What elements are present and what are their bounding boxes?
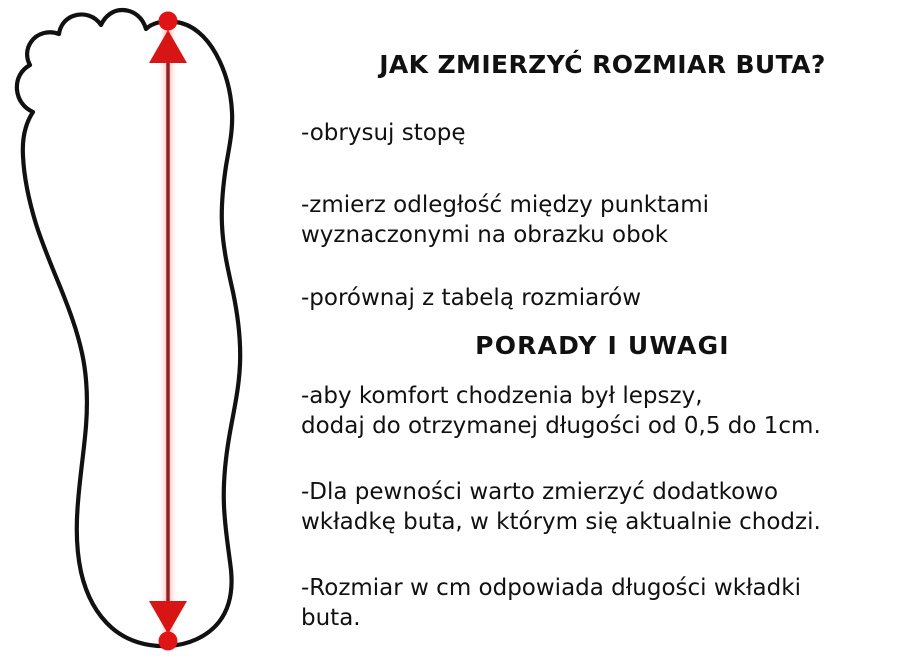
measurement-point-top	[159, 12, 178, 31]
instruction-outline-foot: -obrysuj stopę	[301, 118, 466, 148]
tip-measure-insole: -Dla pewności warto zmierzyć dodatkowo w…	[301, 477, 821, 537]
instructions-panel: JAK ZMIERZYĆ ROZMIAR BUTA? -obrysuj stop…	[290, 0, 915, 669]
foot-diagram	[0, 0, 290, 669]
shoe-size-guide-page: JAK ZMIERZYĆ ROZMIAR BUTA? -obrysuj stop…	[0, 0, 915, 669]
measurement-point-bottom	[159, 632, 178, 651]
page-title: JAK ZMIERZYĆ ROZMIAR BUTA?	[290, 50, 915, 79]
tip-size-equals-insole-length: -Rozmiar w cm odpowiada długości wkładki…	[301, 573, 801, 633]
instruction-compare-size-table: -porównaj z tabelą rozmiarów	[301, 283, 641, 313]
instruction-measure-distance: -zmierz odległość między punktami wyznac…	[301, 190, 709, 250]
tip-comfort-allowance: -aby komfort chodzenia był lepszy, dodaj…	[301, 381, 821, 441]
foot-outline-path	[17, 10, 240, 646]
tips-section-heading: PORADY I UWAGI	[290, 331, 915, 360]
